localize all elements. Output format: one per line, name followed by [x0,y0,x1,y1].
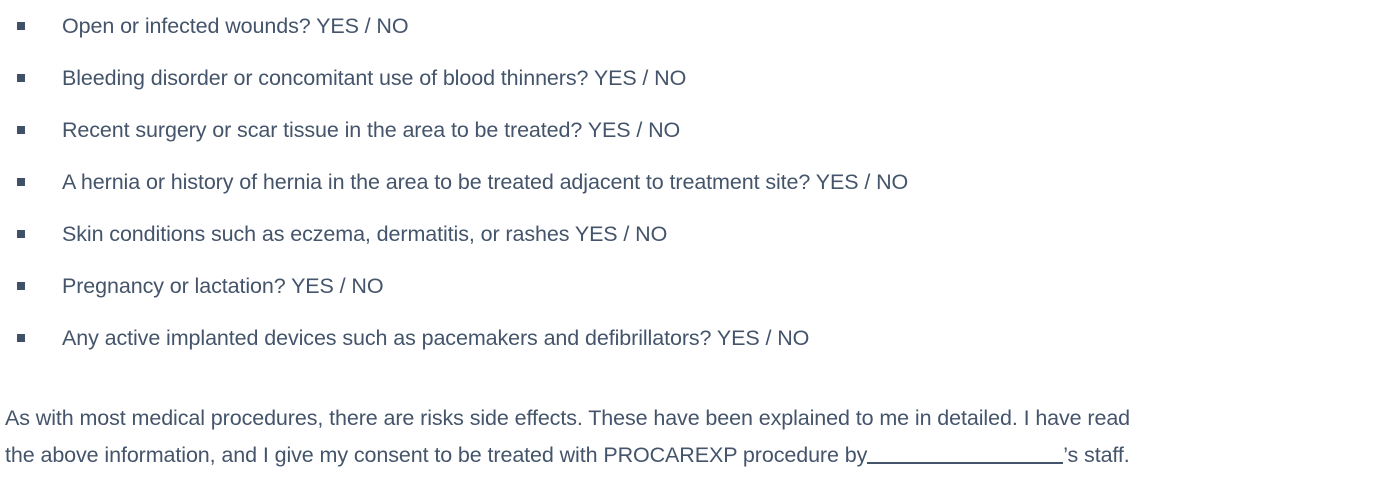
consent-text-after-blank: ’s staff. [1063,443,1129,467]
list-item: Any active implanted devices such as pac… [0,312,1383,364]
consent-paragraph-line-1: As with most medical procedures, there a… [5,400,1383,437]
screening-question-text: Any active implanted devices such as pac… [62,312,809,364]
list-item: Open or infected wounds? YES / NO [0,0,1383,52]
consent-paragraph-line-2: the above information, and I give my con… [5,437,1383,474]
screening-question-list: Open or infected wounds? YES / NO Bleedi… [0,0,1383,364]
list-item: Pregnancy or lactation? YES / NO [0,260,1383,312]
square-bullet-icon [17,178,25,186]
screening-question-text: Pregnancy or lactation? YES / NO [62,260,383,312]
square-bullet-icon [17,282,25,290]
square-bullet-icon [17,230,25,238]
square-bullet-icon [17,22,25,30]
screening-question-text: Bleeding disorder or concomitant use of … [62,52,686,104]
square-bullet-icon [17,74,25,82]
screening-question-text: Skin conditions such as eczema, dermatit… [62,208,667,260]
screening-question-text: Recent surgery or scar tissue in the are… [62,104,680,156]
screening-question-text: Open or infected wounds? YES / NO [62,0,408,52]
list-item: Bleeding disorder or concomitant use of … [0,52,1383,104]
list-item: Skin conditions such as eczema, dermatit… [0,208,1383,260]
square-bullet-icon [17,334,25,342]
list-item: A hernia or history of hernia in the are… [0,156,1383,208]
square-bullet-icon [17,126,25,134]
screening-question-text: A hernia or history of hernia in the are… [62,156,908,208]
list-item: Recent surgery or scar tissue in the are… [0,104,1383,156]
consent-paragraph: As with most medical procedures, there a… [5,400,1383,474]
clinic-name-blank-field[interactable] [867,439,1063,464]
consent-text-before-blank: the above information, and I give my con… [5,443,867,467]
